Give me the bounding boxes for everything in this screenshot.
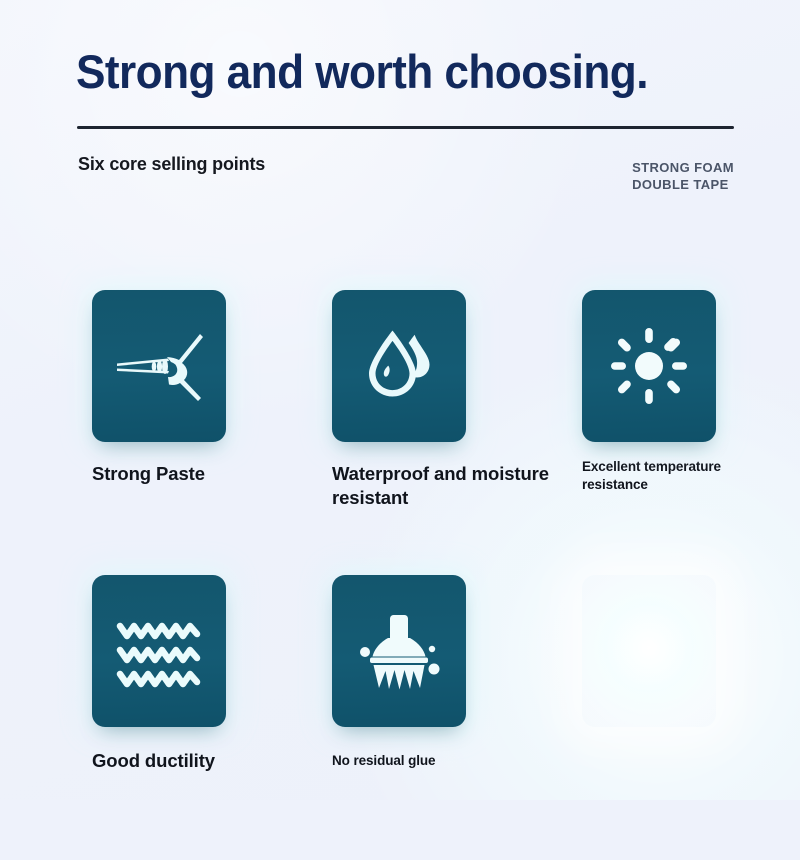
brand-tagline-line2: DOUBLE TAPE bbox=[632, 176, 734, 193]
feature-icon-tile bbox=[92, 575, 226, 727]
feature-icon-tile bbox=[92, 290, 226, 442]
feature-card-strong-paste[interactable]: Strong Paste bbox=[92, 290, 322, 486]
feature-label: Waterproof and moisture resistant bbox=[332, 462, 562, 509]
feature-label: No residual glue bbox=[332, 752, 522, 770]
feature-icon-tile bbox=[332, 290, 466, 442]
promo-page: Strong and worth choosing. Six core sell… bbox=[0, 0, 800, 800]
feature-icon-tile-washed-out bbox=[582, 575, 716, 727]
feature-card-waterproof[interactable]: Waterproof and moisture resistant bbox=[332, 290, 562, 509]
feature-label: Good ductility bbox=[92, 749, 322, 773]
feature-label: Strong Paste bbox=[92, 462, 322, 486]
header-divider bbox=[77, 126, 734, 129]
broom-icon bbox=[355, 607, 443, 695]
feature-icon-tile bbox=[332, 575, 466, 727]
sun-icon bbox=[608, 325, 690, 407]
brand-tagline: STRONG FOAM DOUBLE TAPE bbox=[632, 159, 734, 193]
page-title: Strong and worth choosing. bbox=[76, 42, 715, 102]
feature-card-ductility[interactable]: Good ductility bbox=[92, 575, 322, 773]
feature-card-temperature[interactable]: Excellent temperature resistance bbox=[582, 290, 772, 494]
page-subtitle: Six core selling points bbox=[78, 153, 265, 175]
wave-lines-icon bbox=[115, 614, 203, 688]
feature-grid: Strong Paste Waterproof bbox=[0, 290, 800, 860]
feature-card-blank[interactable] bbox=[582, 575, 772, 743]
feature-card-no-residue[interactable]: No residual glue bbox=[332, 575, 522, 770]
brand-tagline-line1: STRONG FOAM bbox=[632, 159, 734, 176]
feature-label: Excellent temperature resistance bbox=[582, 458, 772, 494]
feature-row-1: Strong Paste Waterproof bbox=[0, 290, 800, 575]
water-drop-icon bbox=[356, 323, 442, 409]
feature-row-2: Good ductility bbox=[0, 575, 800, 860]
stretched-adhesive-icon bbox=[111, 328, 207, 404]
feature-icon-tile bbox=[582, 290, 716, 442]
